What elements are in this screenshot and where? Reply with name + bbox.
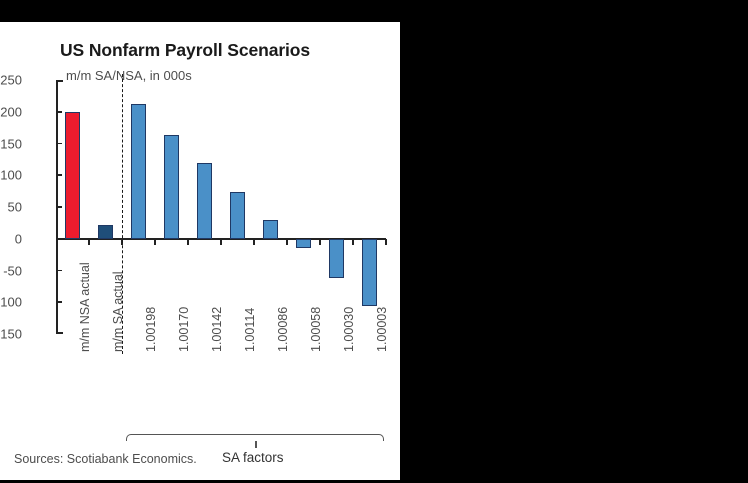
y-axis-cap-bottom [56, 332, 63, 334]
x-axis-label: 1.00003 [375, 307, 389, 352]
y-axis-label: -100 [0, 295, 22, 310]
chart-panel: US Nonfarm Payroll Scenarios m/m SA/NSA,… [0, 22, 400, 480]
group-separator [122, 74, 123, 354]
y-axis-tick [56, 301, 62, 303]
y-axis-tick [56, 111, 62, 113]
y-axis-label: 50 [8, 200, 22, 215]
y-axis-tick [56, 206, 62, 208]
x-axis-label: m/m NSA actual [78, 262, 92, 352]
x-axis-label: 1.00114 [243, 308, 257, 352]
x-axis-label: 1.00086 [276, 307, 290, 352]
x-axis-tick [88, 239, 90, 245]
x-axis-tick [56, 239, 58, 245]
x-axis-group-label: SA factors [222, 450, 284, 465]
y-axis-label: 250 [0, 73, 22, 88]
x-axis-label: 1.00170 [177, 307, 191, 352]
plot-area: 250200150100500-50-100-150m/m NSA actual… [56, 80, 386, 334]
y-axis-tick [56, 143, 62, 145]
bar [197, 163, 212, 239]
bar [65, 112, 80, 239]
x-axis-label: 1.00058 [309, 307, 323, 352]
y-axis-label: 0 [15, 231, 22, 246]
bar [98, 225, 113, 239]
group-brace-stem [255, 441, 257, 448]
x-axis-tick [154, 239, 156, 245]
y-axis-tick [56, 270, 62, 272]
x-axis-tick [286, 239, 288, 245]
x-axis-label: 1.00198 [144, 307, 158, 352]
y-axis-label: 150 [0, 136, 22, 151]
bar [164, 135, 179, 239]
bar [362, 239, 377, 306]
x-axis-label: 1.00142 [210, 307, 224, 352]
y-axis-label: -150 [0, 327, 22, 342]
bar [296, 239, 311, 249]
x-axis-tick [220, 239, 222, 245]
bar [131, 104, 146, 239]
source-note: Sources: Scotiabank Economics. [14, 452, 197, 466]
y-axis-label: 100 [0, 168, 22, 183]
y-axis-tick [56, 174, 62, 176]
bar [230, 192, 245, 239]
x-axis-tick [319, 239, 321, 245]
y-axis-label: -50 [3, 263, 22, 278]
x-axis-tick [385, 239, 387, 245]
x-axis-tick [253, 239, 255, 245]
y-axis-label: 200 [0, 104, 22, 119]
bar [329, 239, 344, 278]
x-axis-label: 1.00030 [342, 307, 356, 352]
page-title: US Nonfarm Payroll Scenarios [0, 40, 400, 61]
group-brace [126, 434, 384, 441]
x-axis-tick [187, 239, 189, 245]
screenshot-root: US Nonfarm Payroll Scenarios m/m SA/NSA,… [0, 0, 748, 483]
y-axis-cap-top [56, 80, 63, 82]
bar [263, 220, 278, 238]
x-axis-tick [352, 239, 354, 245]
